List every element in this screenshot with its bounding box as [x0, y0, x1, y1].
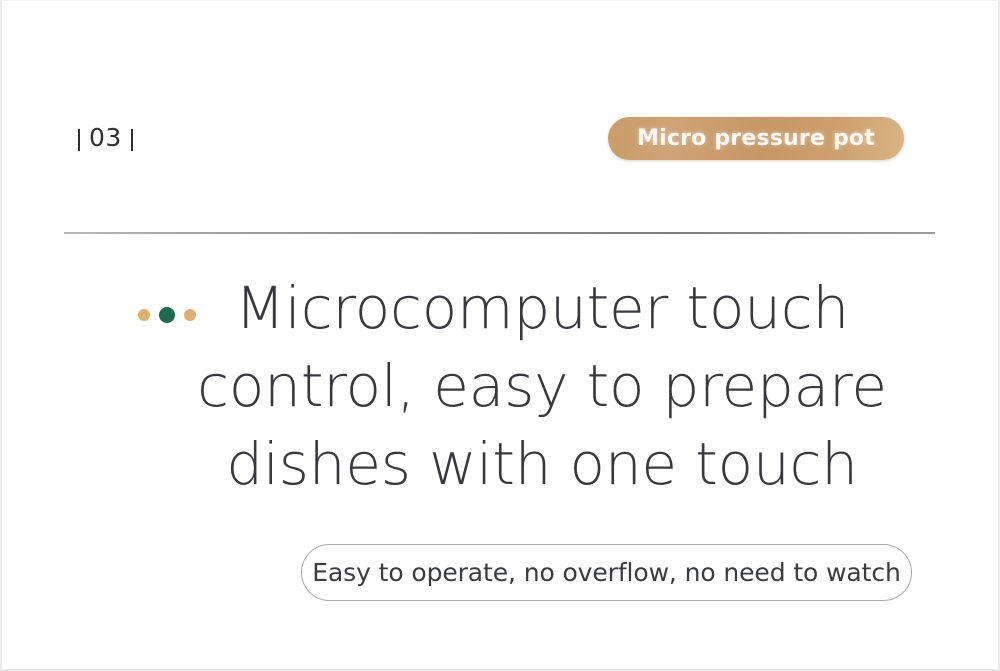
index-bar-left-icon [78, 129, 80, 151]
section-index-label: 03 [78, 117, 133, 159]
headline-line-1: Microcomputer touch [182, 269, 902, 347]
subtitle-pill: Easy to operate, no overflow, no need to… [301, 544, 912, 601]
page-title: Microcomputer touch control, easy to pre… [182, 269, 902, 503]
dot-green-center-icon [159, 307, 175, 323]
header-row: 03 Micro pressure pot [2, 117, 1000, 163]
section-index-number: 03 [89, 117, 122, 159]
dot-tan-left-icon [138, 309, 150, 321]
micro-pressure-pot-badge[interactable]: Micro pressure pot [608, 117, 904, 160]
header-divider [64, 232, 935, 234]
slide-canvas: 03 Micro pressure pot Microcomputer touc… [0, 0, 1000, 671]
subtitle-text: Easy to operate, no overflow, no need to… [312, 558, 900, 587]
badge-label: Micro pressure pot [637, 126, 875, 151]
headline-line-3: dishes with one touch [182, 425, 902, 503]
headline-line-2: control, easy to prepare [182, 347, 902, 425]
index-bar-right-icon [131, 129, 133, 151]
